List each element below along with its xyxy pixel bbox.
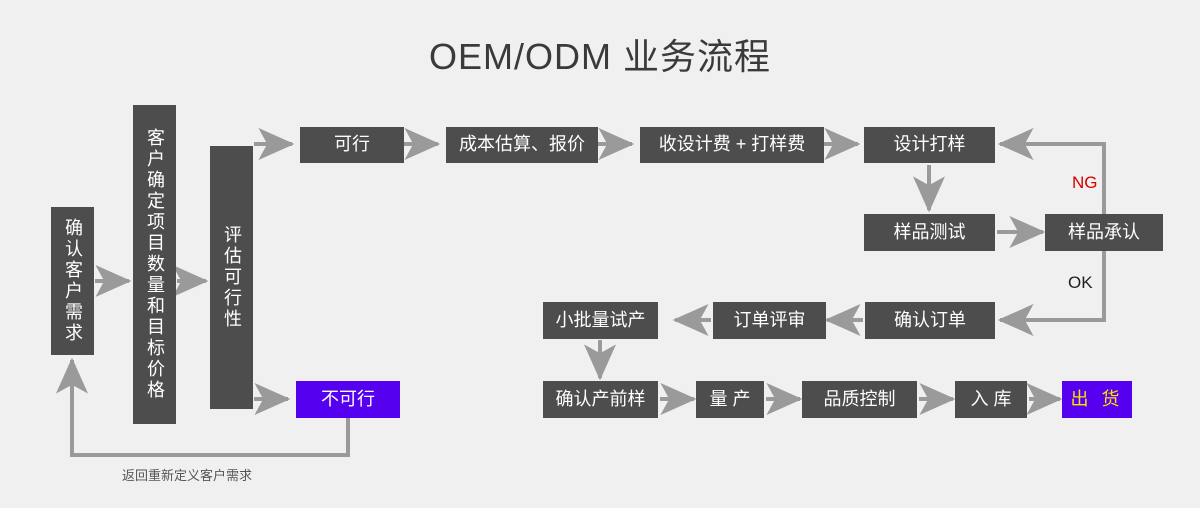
node-order-review[interactable]: 订单评审 <box>713 302 826 339</box>
node-sample-test[interactable]: 样品测试 <box>864 214 995 251</box>
node-shipment[interactable]: 出 货 <box>1062 381 1132 418</box>
node-design-prototype[interactable]: 设计打样 <box>864 127 995 163</box>
node-mass-production[interactable]: 量 产 <box>696 381 764 418</box>
node-assess-feasibility[interactable]: 评估可行性 <box>210 146 253 409</box>
node-quality-control[interactable]: 品质控制 <box>802 381 917 418</box>
edge-label-ng: NG <box>1072 173 1098 193</box>
node-customer-defines-quantity-price[interactable]: 客户确定项目数量和目标价格 <box>133 105 176 424</box>
node-not-feasible[interactable]: 不可行 <box>296 381 400 418</box>
node-design-and-sample-fee[interactable]: 收设计费 + 打样费 <box>640 127 824 163</box>
node-warehousing[interactable]: 入 库 <box>955 381 1027 418</box>
page-title: OEM/ODM 业务流程 <box>0 28 1200 80</box>
edge-label-return-loop: 返回重新定义客户需求 <box>122 465 252 484</box>
node-confirm-order[interactable]: 确认订单 <box>865 302 995 339</box>
node-confirm-customer-need[interactable]: 确认客户需求 <box>51 207 94 355</box>
flowchart-canvas: OEM/ODM 业务流程 <box>0 0 1200 508</box>
node-sample-approval[interactable]: 样品承认 <box>1045 214 1163 251</box>
node-feasible[interactable]: 可行 <box>300 127 404 163</box>
edge-label-ok: OK <box>1068 273 1093 293</box>
node-confirm-preproduction-sample[interactable]: 确认产前样 <box>543 381 658 418</box>
node-small-batch-trial[interactable]: 小批量试产 <box>543 302 658 339</box>
node-cost-estimate-quote[interactable]: 成本估算、报价 <box>446 127 598 163</box>
